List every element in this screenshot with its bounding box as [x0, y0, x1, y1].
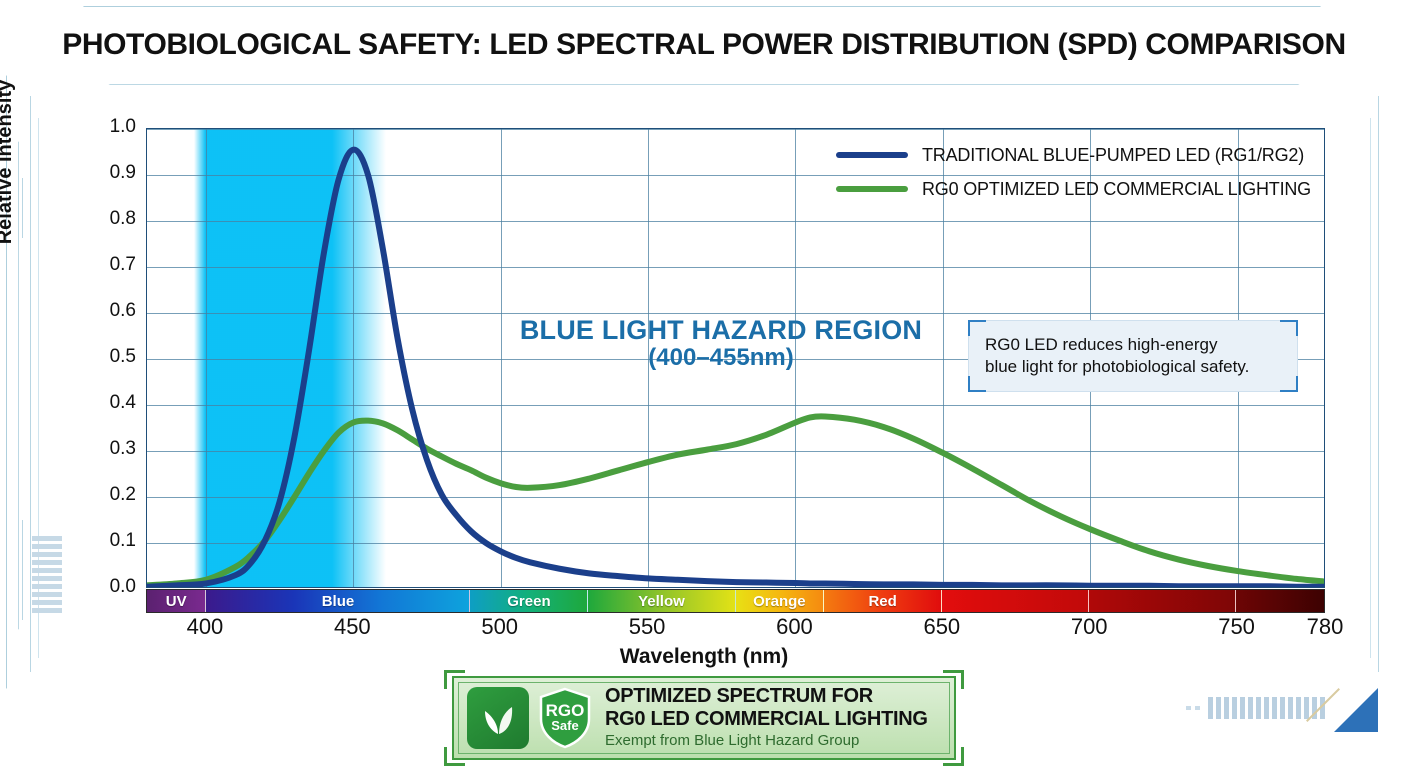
badge-line2: RG0 LED COMMERCIAL LIGHTING: [605, 708, 928, 730]
callout-line2: blue light for photobiological safety.: [985, 356, 1281, 378]
x-axis-tick-label: 700: [1049, 614, 1129, 640]
callout-box: RG0 LED reduces high-energy blue light f…: [968, 320, 1298, 392]
spectrum-band-red1: Red: [824, 590, 942, 612]
x-axis-tick-label: 750: [1197, 614, 1277, 640]
leaf-icon: [467, 687, 529, 749]
hazard-label-line1: BLUE LIGHT HAZARD REGION: [516, 315, 926, 345]
badge-bracket-bottom-right: [943, 747, 964, 766]
legend-label: RG0 OPTIMIZED LED COMMERCIAL LIGHTING: [922, 179, 1311, 200]
spectrum-band-red4: [1236, 590, 1324, 612]
y-axis-tick-label: 0.8: [90, 208, 136, 230]
badge-line3: Exempt from Blue Light Hazard Group: [605, 731, 928, 751]
legend-color-swatch: [836, 152, 908, 158]
badge-bracket-top-right: [943, 670, 964, 689]
callout-bracket-top-left: [968, 320, 986, 336]
callout-line1: RG0 LED reduces high-energy: [985, 334, 1281, 356]
y-axis-title: Relative Intensity: [0, 42, 17, 282]
y-axis-tick-label: 0.5: [90, 346, 136, 368]
page-title-rest: LED SPECTRAL POWER DISTRIBUTION (SPD) CO…: [481, 28, 1345, 61]
hud-bottom-left-bar: [22, 520, 23, 620]
hud-right-rail-2: [1370, 118, 1371, 658]
callout-bracket-top-right: [1280, 320, 1298, 336]
spectrum-band-orange: Orange: [736, 590, 825, 612]
spd-curve: [147, 416, 1325, 585]
spectrum-band-uv: UV: [147, 590, 206, 612]
hud-right-rail-1: [1378, 96, 1379, 672]
badge-bracket-top-left: [444, 670, 465, 689]
x-axis-tick-label: 650: [902, 614, 982, 640]
y-axis-tick-label: 0.3: [90, 438, 136, 460]
hazard-region-label: BLUE LIGHT HAZARD REGION (400–455nm): [516, 315, 926, 372]
x-axis-tick-label: 780: [1285, 614, 1365, 640]
hud-top-left-bar: [22, 178, 23, 238]
legend-label: TRADITIONAL BLUE-PUMPED LED (RG1/RG2): [922, 145, 1304, 166]
x-axis-tick-label: 600: [754, 614, 834, 640]
shield-label-bottom: Safe: [551, 719, 578, 733]
y-axis-tick-label: 1.0: [90, 116, 136, 138]
hud-bottom-tick-marks: [1208, 697, 1325, 719]
page-title: PHOTOBIOLOGICAL SAFETY: LED SPECTRAL POW…: [0, 28, 1408, 62]
y-axis-tick-label: 0.7: [90, 254, 136, 276]
x-axis-title: Wavelength (nm): [0, 645, 1408, 669]
spectrum-band-green: Green: [470, 590, 588, 612]
spectrum-band-yellow: Yellow: [588, 590, 735, 612]
shield-icon: RGO Safe: [537, 687, 593, 749]
spectrum-band-blue: Blue: [206, 590, 470, 612]
y-axis-tick-label: 0.2: [90, 484, 136, 506]
legend-color-swatch: [836, 186, 908, 192]
badge-text: OPTIMIZED SPECTRUM FOR RG0 LED COMMERCIA…: [605, 685, 928, 750]
y-axis-tick-label: 0.0: [90, 576, 136, 598]
x-axis-tick-label: 400: [165, 614, 245, 640]
legend-item: TRADITIONAL BLUE-PUMPED LED (RG1/RG2): [836, 138, 1328, 172]
legend-item: RG0 OPTIMIZED LED COMMERCIAL LIGHTING: [836, 172, 1328, 206]
page-title-bold: PHOTOBIOLOGICAL SAFETY:: [62, 28, 481, 61]
hud-bottom-dot-marks: [1186, 706, 1200, 710]
hazard-label-line2: (400–455nm): [516, 345, 926, 372]
y-axis-tick-label: 0.1: [90, 530, 136, 552]
spectrum-color-bar: UVBlueGreenYellowOrangeRed: [146, 589, 1325, 613]
y-axis-tick-label: 0.6: [90, 300, 136, 322]
hud-left-tick-marks: [32, 536, 62, 613]
y-axis-tick-label: 0.4: [90, 392, 136, 414]
shield-label-top: RGO: [546, 702, 585, 719]
badge-line1: OPTIMIZED SPECTRUM FOR: [605, 685, 928, 707]
rg0-safe-badge: RGO Safe OPTIMIZED SPECTRUM FOR RG0 LED …: [452, 676, 956, 760]
badge-bracket-bottom-left: [444, 747, 465, 766]
spectrum-band-red3: [1089, 590, 1236, 612]
x-axis-tick-label: 450: [312, 614, 392, 640]
callout-bracket-bottom-right: [1280, 376, 1298, 392]
y-axis-tick-label: 0.9: [90, 162, 136, 184]
x-axis-tick-label: 500: [460, 614, 540, 640]
callout-bracket-bottom-left: [968, 376, 986, 392]
x-axis-tick-label: 550: [607, 614, 687, 640]
chart-legend: TRADITIONAL BLUE-PUMPED LED (RG1/RG2)RG0…: [836, 138, 1328, 206]
chart-canvas: PHOTOBIOLOGICAL SAFETY: LED SPECTRAL POW…: [0, 0, 1408, 768]
hud-left-rail-1: [30, 96, 31, 672]
hud-corner-triangle: [1334, 688, 1378, 732]
spectrum-band-red2: [942, 590, 1089, 612]
